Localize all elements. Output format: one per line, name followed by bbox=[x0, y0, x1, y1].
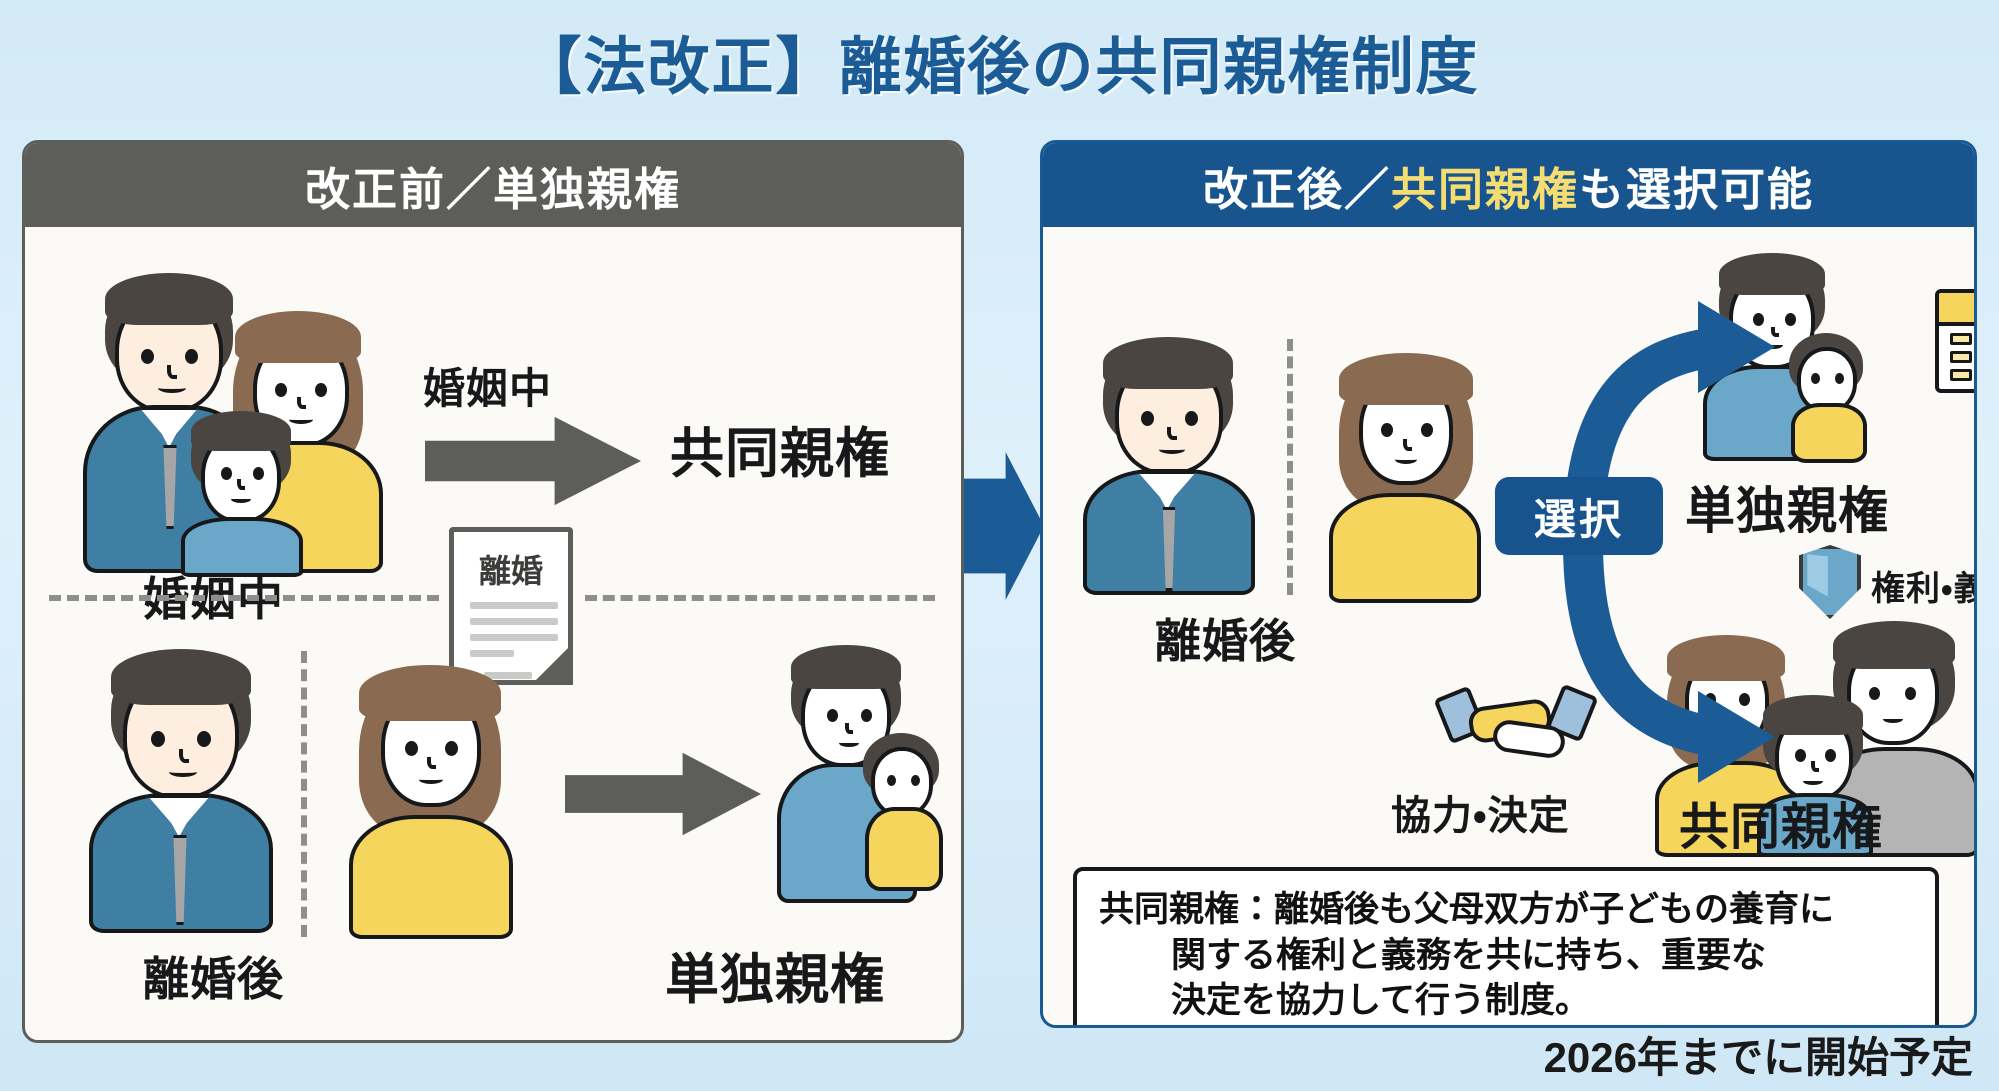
divider-couple-separation bbox=[301, 651, 307, 937]
shield-icon bbox=[1799, 545, 1861, 619]
definition-line-2: 関する権利と義務を共に持ち、重要な bbox=[1099, 933, 1913, 979]
divider-dashed-left bbox=[49, 595, 439, 601]
document-folded-corner bbox=[531, 643, 573, 685]
panel-after-header-prefix: 改正後／ bbox=[1203, 153, 1391, 218]
married-family-illustration bbox=[83, 265, 413, 565]
panel-after-header-highlight: 共同親権 bbox=[1391, 153, 1579, 218]
divorce-document-icon: 離婚 bbox=[449, 527, 573, 685]
definition-line-3: 決定を協力して行う制度。 bbox=[1099, 978, 1913, 1024]
label-joint-custody-result: 共同親権 bbox=[670, 409, 890, 488]
label-arrow-married: 婚姻中 bbox=[423, 355, 552, 416]
panel-before-reform: 改正前／単独親権 bbox=[22, 140, 964, 1043]
panel-before-header: 改正前／単独親権 bbox=[25, 143, 961, 227]
page-title: 【法改正】離婚後の共同親権制度 bbox=[0, 16, 1999, 106]
panel-after-reform: 改正後／共同親権も選択可能 bbox=[1040, 140, 1977, 1028]
label-sole-custody-result: 単独親権 bbox=[665, 935, 885, 1014]
calendar-icon bbox=[1935, 289, 1977, 393]
footer-note: 2026年までに開始予定 bbox=[1544, 1024, 1973, 1085]
panel-before-header-text: 改正前／単独親権 bbox=[305, 153, 681, 218]
panel-after-header: 改正後／共同親権も選択可能 bbox=[1043, 143, 1974, 227]
panel-after-body: 離婚後 選択 bbox=[1043, 227, 1974, 1025]
panel-after-header-suffix: も選択可能 bbox=[1579, 153, 1814, 218]
definition-line-1: 共同親権：離婚後も父母双方が子どもの養育に bbox=[1099, 887, 1913, 933]
choice-badge: 選択 bbox=[1495, 477, 1663, 555]
choice-badge-label: 選択 bbox=[1534, 486, 1624, 547]
transition-arrow bbox=[964, 452, 1044, 600]
divider-dashed-right bbox=[585, 595, 935, 601]
infographic-root: 【法改正】離婚後の共同親権制度 改正前／単独親権 bbox=[0, 0, 1999, 1091]
sole-custody-illustration bbox=[785, 647, 964, 947]
after-couple-separation bbox=[1287, 339, 1293, 595]
panel-before-body: 婚姻中 婚姻中 共同親権 離婚 bbox=[25, 227, 961, 1040]
label-divorced-group: 離婚後 bbox=[143, 943, 284, 1009]
label-after-divorced: 離婚後 bbox=[1155, 605, 1296, 671]
definition-box: 共同親権：離婚後も父母双方が子どもの養育に 関する権利と義務を共に持ち、重要な … bbox=[1073, 867, 1939, 1028]
arrow-married-to-joint bbox=[425, 415, 641, 507]
after-divorced-father bbox=[1083, 337, 1273, 597]
label-rights-duties: 権利・義務 bbox=[1871, 561, 1977, 610]
divorced-father-illustration bbox=[87, 647, 287, 937]
arrow-divorce-to-sole bbox=[565, 751, 761, 837]
divorce-document-title: 離婚 bbox=[454, 546, 568, 592]
divorced-mother-illustration bbox=[343, 663, 533, 939]
